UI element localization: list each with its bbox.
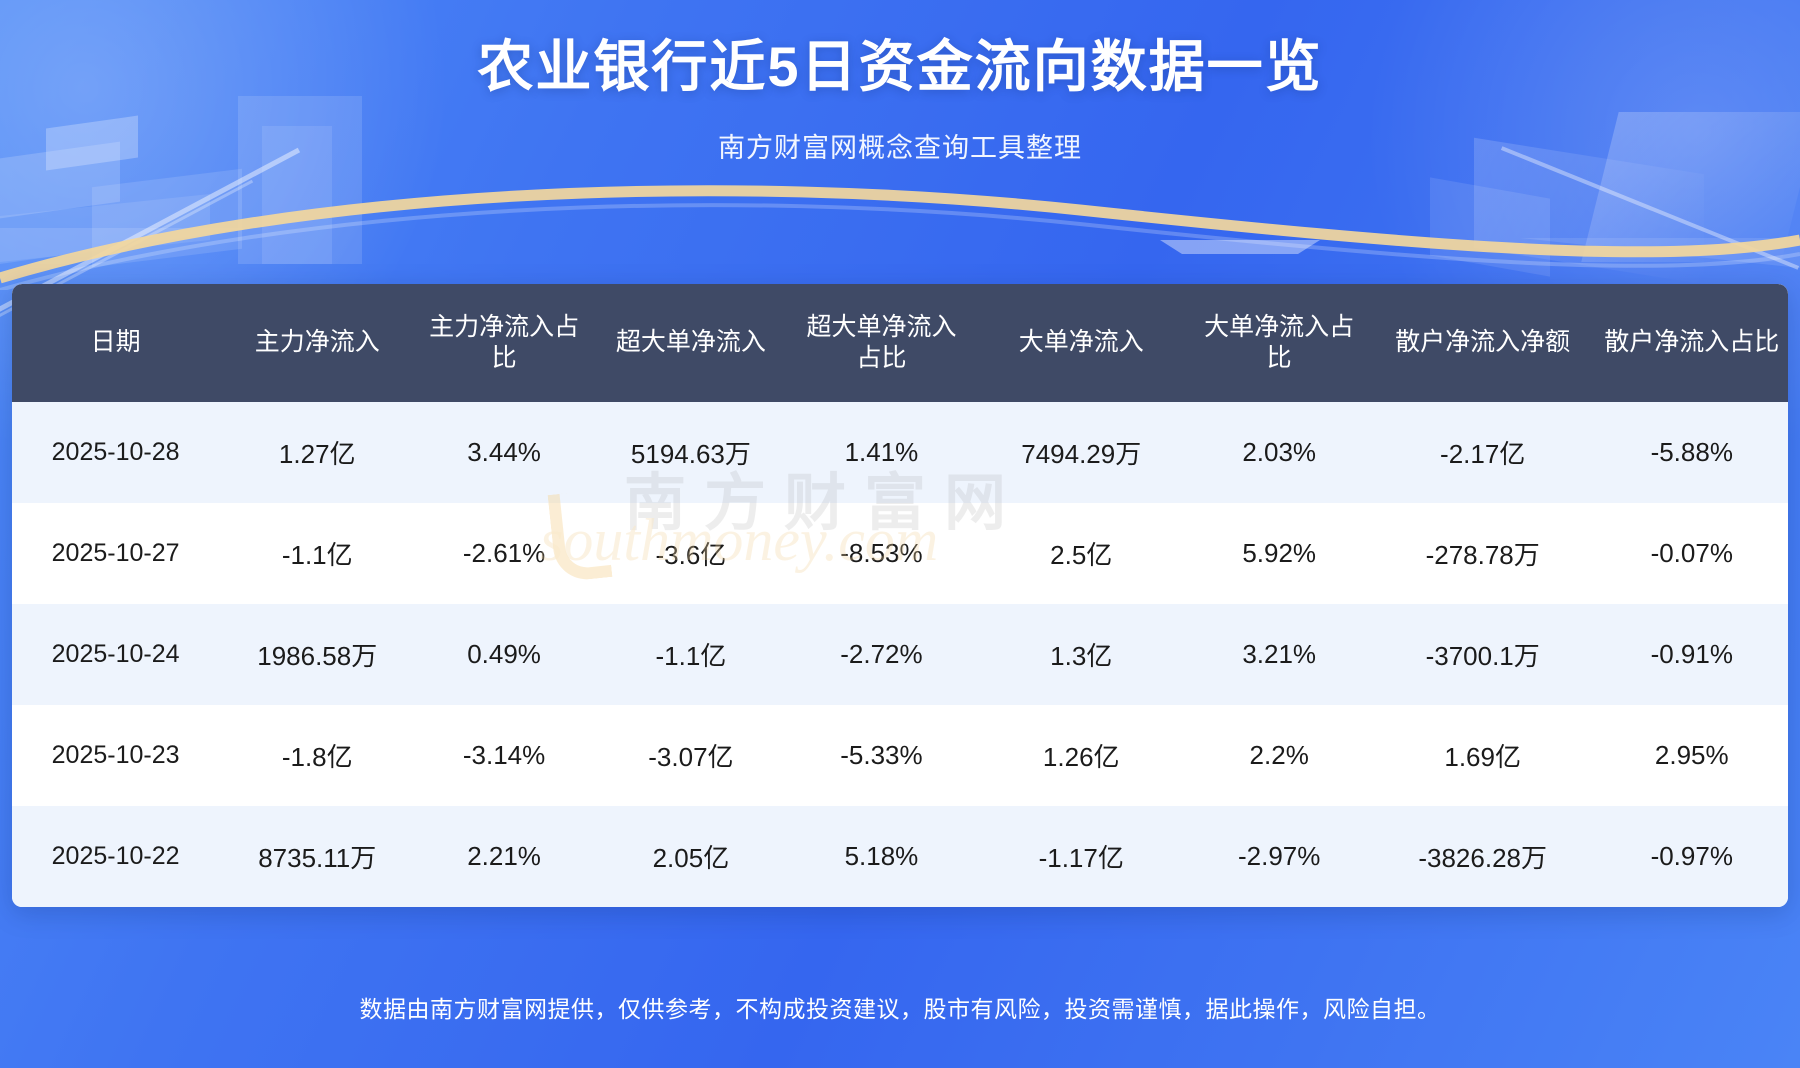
- cell-main-pct: -2.61%: [415, 503, 593, 604]
- cell-lg-pct: -2.97%: [1189, 806, 1370, 907]
- cell-retail-net: -2.17亿: [1370, 402, 1596, 503]
- table-row: 2025-10-28 1.27亿 3.44% 5194.63万 1.41% 74…: [12, 402, 1788, 503]
- cell-lg-pct: 2.2%: [1189, 705, 1370, 806]
- footer-disclaimer: 数据由南方财富网提供，仅供参考，不构成投资建议，股市有风险，投资需谨慎，据此操作…: [0, 990, 1800, 1024]
- cell-main-pct: -3.14%: [415, 705, 593, 806]
- column-header-lg-net[interactable]: 大单净流入: [974, 284, 1189, 402]
- cell-xl-pct: -5.33%: [789, 705, 974, 806]
- cell-retail-pct: -0.07%: [1596, 503, 1788, 604]
- data-table-container: 日期 主力净流入 主力净流入占比 超大单净流入 超大单净流入占比 大单净流入 大…: [12, 284, 1788, 907]
- cell-xl-net: -1.1亿: [593, 604, 789, 705]
- cell-xl-net: 5194.63万: [593, 402, 789, 503]
- cell-main-net: -1.1亿: [219, 503, 415, 604]
- cell-main-pct: 0.49%: [415, 604, 593, 705]
- cell-main-net: 1986.58万: [219, 604, 415, 705]
- cell-xl-net: -3.6亿: [593, 503, 789, 604]
- cell-xl-pct: -8.53%: [789, 503, 974, 604]
- cell-lg-net: 1.3亿: [974, 604, 1189, 705]
- cell-retail-net: -3826.28万: [1370, 806, 1596, 907]
- cell-xl-net: -3.07亿: [593, 705, 789, 806]
- cell-main-net: 1.27亿: [219, 402, 415, 503]
- decor-gold-swoosh: [0, 170, 1800, 290]
- cell-xl-net: 2.05亿: [593, 806, 789, 907]
- header: 农业银行近5日资金流向数据一览 南方财富网概念查询工具整理: [0, 0, 1800, 165]
- table-row: 2025-10-24 1986.58万 0.49% -1.1亿 -2.72% 1…: [12, 604, 1788, 705]
- decor-building-shape: [92, 169, 242, 267]
- cell-main-net: -1.8亿: [219, 705, 415, 806]
- fund-flow-table: 日期 主力净流入 主力净流入占比 超大单净流入 超大单净流入占比 大单净流入 大…: [12, 284, 1788, 907]
- column-header-main-net[interactable]: 主力净流入: [219, 284, 415, 402]
- cell-lg-pct: 2.03%: [1189, 402, 1370, 503]
- cell-lg-net: 2.5亿: [974, 503, 1189, 604]
- page-subtitle: 南方财富网概念查询工具整理: [0, 126, 1800, 165]
- decor-tab-notch: [1160, 240, 1320, 254]
- cell-retail-pct: -5.88%: [1596, 402, 1788, 503]
- cell-lg-pct: 5.92%: [1189, 503, 1370, 604]
- cell-retail-pct: 2.95%: [1596, 705, 1788, 806]
- cell-main-pct: 2.21%: [415, 806, 593, 907]
- column-header-xl-pct[interactable]: 超大单净流入占比: [789, 284, 974, 402]
- column-header-lg-pct[interactable]: 大单净流入占比: [1189, 284, 1370, 402]
- decor-triangle-right: [1520, 238, 1800, 268]
- column-header-retail-pct[interactable]: 散户净流入占比: [1596, 284, 1788, 402]
- cell-lg-pct: 3.21%: [1189, 604, 1370, 705]
- table-row: 2025-10-23 -1.8亿 -3.14% -3.07亿 -5.33% 1.…: [12, 705, 1788, 806]
- cell-date: 2025-10-22: [12, 806, 219, 907]
- cell-lg-net: 7494.29万: [974, 402, 1189, 503]
- table-row: 2025-10-27 -1.1亿 -2.61% -3.6亿 -8.53% 2.5…: [12, 503, 1788, 604]
- cell-retail-net: 1.69亿: [1370, 705, 1596, 806]
- decor-triangle-left: [0, 228, 250, 264]
- cell-date: 2025-10-23: [12, 705, 219, 806]
- cell-date: 2025-10-27: [12, 503, 219, 604]
- page-title: 农业银行近5日资金流向数据一览: [0, 34, 1800, 100]
- cell-xl-pct: 1.41%: [789, 402, 974, 503]
- table-header-row: 日期 主力净流入 主力净流入占比 超大单净流入 超大单净流入占比 大单净流入 大…: [12, 284, 1788, 402]
- column-header-xl-net[interactable]: 超大单净流入: [593, 284, 789, 402]
- cell-main-pct: 3.44%: [415, 402, 593, 503]
- cell-lg-net: 1.26亿: [974, 705, 1189, 806]
- cell-xl-pct: -2.72%: [789, 604, 974, 705]
- cell-date: 2025-10-24: [12, 604, 219, 705]
- cell-xl-pct: 5.18%: [789, 806, 974, 907]
- column-header-date[interactable]: 日期: [12, 284, 219, 402]
- cell-retail-net: -278.78万: [1370, 503, 1596, 604]
- decor-building-shape: [1430, 177, 1550, 276]
- cell-date: 2025-10-28: [12, 402, 219, 503]
- cell-lg-net: -1.17亿: [974, 806, 1189, 907]
- cell-retail-net: -3700.1万: [1370, 604, 1596, 705]
- decor-building-shape: [0, 194, 210, 262]
- column-header-main-pct[interactable]: 主力净流入占比: [415, 284, 593, 402]
- page-root: 农业银行近5日资金流向数据一览 南方财富网概念查询工具整理 日期 主力净流入 主…: [0, 0, 1800, 1068]
- cell-retail-pct: -0.91%: [1596, 604, 1788, 705]
- cell-retail-pct: -0.97%: [1596, 806, 1788, 907]
- column-header-retail-net[interactable]: 散户净流入净额: [1370, 284, 1596, 402]
- cell-main-net: 8735.11万: [219, 806, 415, 907]
- table-body: 2025-10-28 1.27亿 3.44% 5194.63万 1.41% 74…: [12, 402, 1788, 907]
- table-row: 2025-10-22 8735.11万 2.21% 2.05亿 5.18% -1…: [12, 806, 1788, 907]
